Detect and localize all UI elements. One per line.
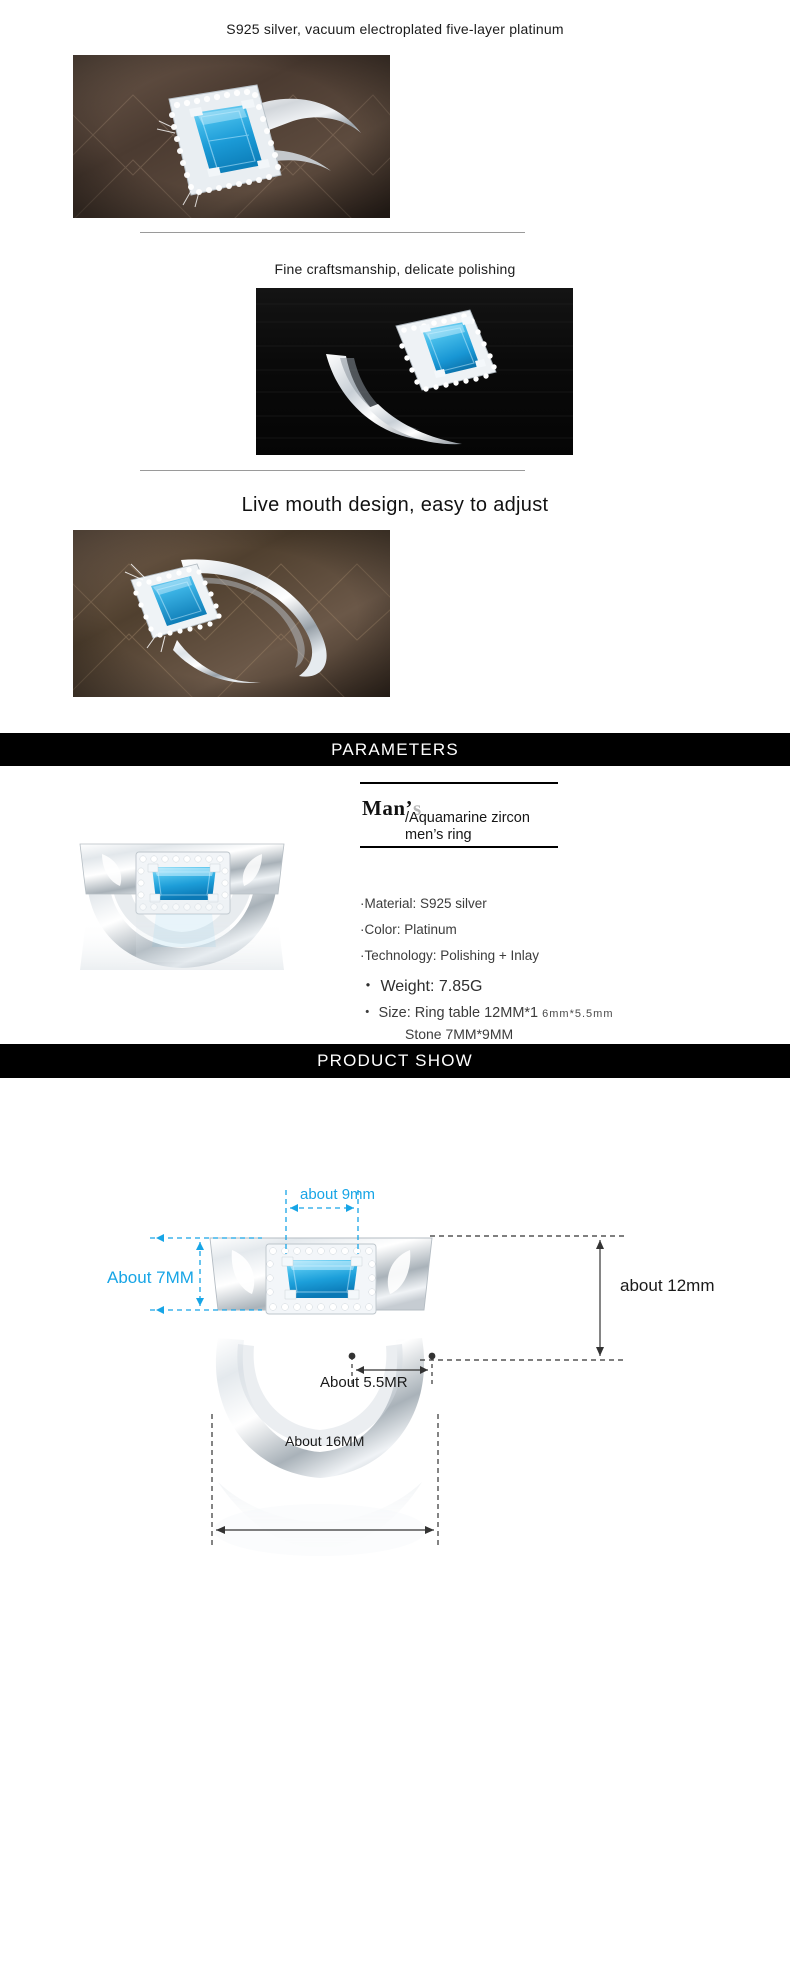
divider-1 (140, 232, 525, 233)
dim-label-top-width: about 9mm (300, 1186, 375, 1203)
dark-photo (256, 288, 573, 455)
intro-caption: S925 silver, vacuum electroplated five-l… (0, 21, 790, 37)
spec-technology: ·Technology: Polishing + Inlay (360, 948, 539, 963)
spec-weight: ・ Weight: 7.85G (360, 972, 482, 996)
craft-caption: Fine craftsmanship, delicate polishing (0, 261, 790, 277)
product-name: /Aquamarine zircon men’s ring (405, 810, 530, 844)
hero-photo-image (73, 55, 390, 218)
dim-label-left-width: About 7MM (107, 1268, 194, 1288)
product-show-bar: PRODUCT SHOW (0, 1044, 790, 1078)
parameter-photo-image (40, 782, 330, 1032)
spec-size-line2: Stone 7MM*9MM (405, 1026, 513, 1042)
product-name-line2: men’s ring (405, 827, 530, 844)
parameter-photo (40, 782, 330, 1032)
dimension-diagram-image (0, 1078, 790, 1968)
product-title-block: Man’s /Aquamarine zircon men’s ring (360, 782, 560, 848)
product-title-rule-bottom (360, 846, 558, 848)
parameters-bar: PARAMETERS (0, 733, 790, 766)
product-name-line1: /Aquamarine zircon (405, 810, 530, 827)
divider-2 (140, 470, 525, 471)
adjust-photo-image (73, 530, 390, 697)
dimension-diagram: about 9mm About 7MM about 12mm About 5.5… (0, 1078, 790, 1968)
parameters-bar-label: PARAMETERS (331, 740, 459, 760)
dim-label-band-width: About 5.5MR (320, 1374, 408, 1391)
brand-word: Man (362, 796, 406, 820)
adjust-heading: Live mouth design, easy to adjust (0, 494, 790, 517)
dim-label-right-height: about 12mm (620, 1276, 715, 1296)
product-detail-page: S925 silver, vacuum electroplated five-l… (0, 0, 790, 1968)
adjust-photo (73, 530, 390, 697)
hero-photo (73, 55, 390, 218)
spec-size-main: ・ Size: Ring table 12MM*1 (360, 1005, 538, 1021)
spec-color: ·Color: Platinum (360, 922, 457, 937)
dark-photo-image (256, 288, 573, 455)
spec-material: ·Material: S925 silver (360, 896, 487, 911)
spec-size-sub: 6mm*5.5mm (542, 1008, 613, 1020)
spec-size-line1: ・ Size: Ring table 12MM*1 6mm*5.5mm (360, 1001, 613, 1022)
product-show-bar-label: PRODUCT SHOW (317, 1051, 473, 1071)
dim-label-inner-diameter: About 16MM (285, 1433, 364, 1449)
